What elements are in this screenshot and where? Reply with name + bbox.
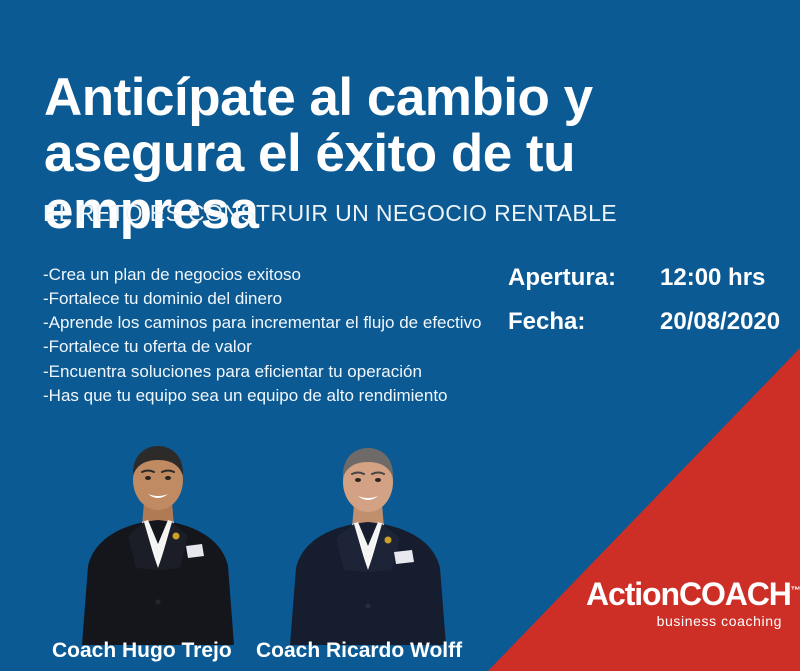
logo-word-coach: COACH	[679, 576, 791, 612]
logo-word-action: Action	[586, 576, 679, 612]
list-item: -Has que tu equipo sea un equipo de alto…	[43, 384, 493, 408]
list-item: -Crea un plan de negocios exitoso	[43, 263, 493, 287]
coach-photo-hugo-trejo	[68, 440, 248, 645]
apertura-value: 12:00 hrs	[660, 264, 765, 292]
subtitle: EL RETO ES CONSTRUIR UN NEGOCIO RENTABLE	[43, 200, 617, 227]
coach-name-label: Coach Ricardo Wolff	[256, 639, 462, 663]
headline-line-1: Anticípate al cambio y	[44, 70, 684, 127]
trademark-icon: ™	[791, 585, 800, 596]
logo-wordmark: ActionCOACH™	[586, 578, 800, 610]
actioncoach-logo: ActionCOACH™ business coaching	[586, 578, 782, 628]
coach-photo-ricardo-wolff	[278, 440, 458, 645]
coach-name-label: Coach Hugo Trejo	[52, 639, 232, 663]
list-item: -Aprende los caminos para incrementar el…	[43, 311, 493, 335]
benefits-list: -Crea un plan de negocios exitoso -Forta…	[43, 263, 493, 408]
fecha-label: Fecha:	[508, 308, 660, 336]
event-details: Apertura: 12:00 hrs Fecha: 20/08/2020	[508, 264, 780, 352]
fecha-value: 20/08/2020	[660, 308, 780, 336]
event-detail-row-apertura: Apertura: 12:00 hrs	[508, 264, 780, 292]
apertura-label: Apertura:	[508, 264, 660, 292]
headline-line-2: asegura el éxito de tu	[44, 126, 684, 183]
logo-tagline: business coaching	[586, 614, 782, 628]
list-item: -Encuentra soluciones para eficientar tu…	[43, 360, 493, 384]
event-detail-row-fecha: Fecha: 20/08/2020	[508, 308, 780, 336]
list-item: -Fortalece tu oferta de valor	[43, 335, 493, 359]
list-item: -Fortalece tu dominio del dinero	[43, 287, 493, 311]
promotional-poster: Anticípate al cambio y asegura el éxito …	[0, 0, 800, 671]
